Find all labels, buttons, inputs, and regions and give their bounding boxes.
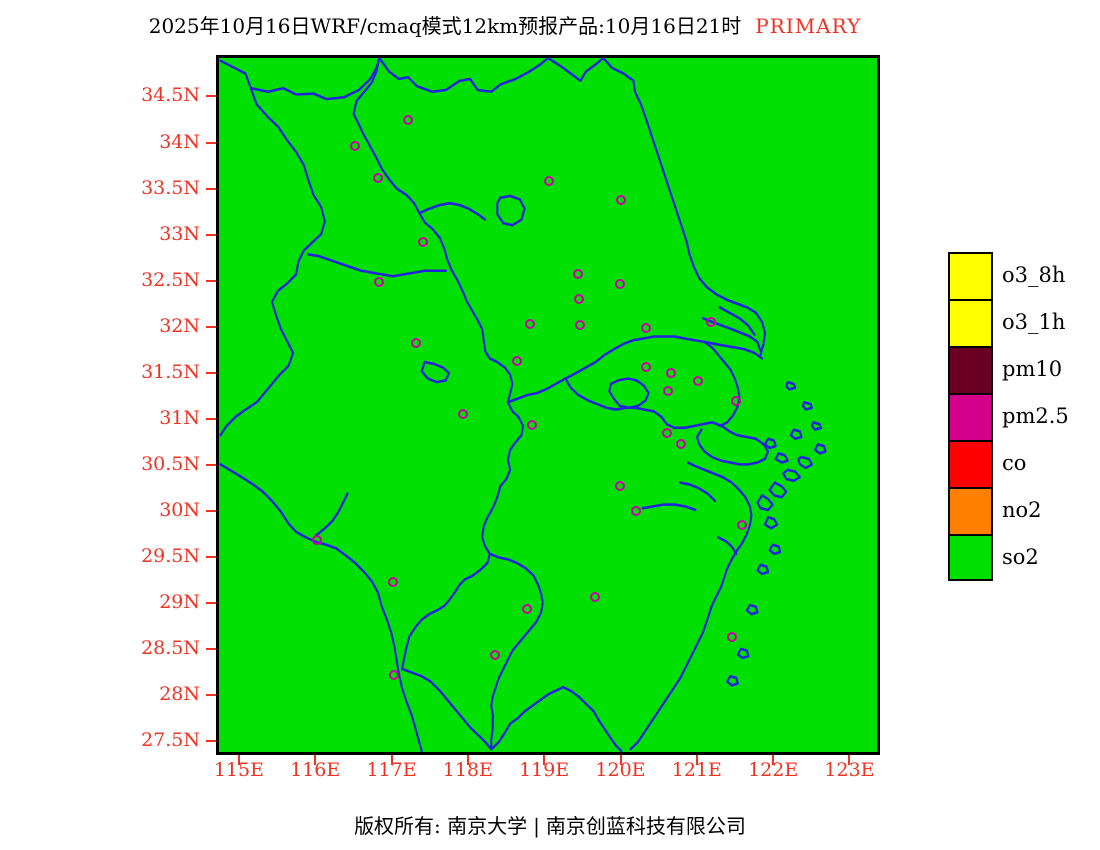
- station-marker[interactable]: [544, 176, 554, 186]
- x-axis-tick: [620, 755, 622, 765]
- station-marker[interactable]: [312, 535, 322, 545]
- legend: o3_8ho3_1hpm10pm2.5cono2so2: [948, 252, 1098, 581]
- legend-label: o3_1h: [1002, 310, 1065, 334]
- legend-item-pm10[interactable]: pm10: [948, 346, 1098, 393]
- legend-divider: [948, 393, 993, 395]
- x-axis-tick: [238, 755, 240, 765]
- station-marker[interactable]: [525, 319, 535, 329]
- legend-item-no2[interactable]: no2: [948, 487, 1098, 534]
- legend-swatch: [948, 346, 993, 393]
- station-marker[interactable]: [388, 577, 398, 587]
- legend-label: pm10: [1002, 357, 1062, 381]
- station-marker[interactable]: [411, 338, 421, 348]
- station-marker[interactable]: [350, 141, 360, 151]
- station-marker[interactable]: [389, 670, 399, 680]
- station-marker[interactable]: [676, 439, 686, 449]
- station-marker[interactable]: [727, 632, 737, 642]
- station-marker[interactable]: [458, 409, 468, 419]
- legend-divider: [948, 440, 993, 442]
- x-axis-tick: [467, 755, 469, 765]
- x-axis-tick: [772, 755, 774, 765]
- legend-divider: [948, 534, 993, 536]
- x-axis-tick: [848, 755, 850, 765]
- legend-item-o3-1h[interactable]: o3_1h: [948, 299, 1098, 346]
- station-marker[interactable]: [575, 320, 585, 330]
- station-marker[interactable]: [662, 428, 672, 438]
- station-marker[interactable]: [573, 269, 583, 279]
- footer-company: 南京创蓝科技有限公司: [546, 814, 746, 838]
- legend-label: co: [1002, 451, 1026, 475]
- legend-swatch: [948, 252, 993, 299]
- station-marker[interactable]: [590, 592, 600, 602]
- legend-swatch: [948, 534, 993, 581]
- footer-copyright: 版权所有: 南京大学: [354, 814, 527, 838]
- station-marker[interactable]: [641, 323, 651, 333]
- legend-label: so2: [1002, 545, 1039, 569]
- x-axis-tick: [543, 755, 545, 765]
- station-marker[interactable]: [641, 362, 651, 372]
- station-marker[interactable]: [693, 376, 703, 386]
- legend-swatch: [948, 487, 993, 534]
- x-axis-tick: [314, 755, 316, 765]
- x-axis-tick: [391, 755, 393, 765]
- legend-item-so2[interactable]: so2: [948, 534, 1098, 581]
- map-plot-area[interactable]: [216, 55, 880, 755]
- station-marker[interactable]: [512, 356, 522, 366]
- station-marker[interactable]: [403, 115, 413, 125]
- station-marker[interactable]: [527, 420, 537, 430]
- station-marker[interactable]: [418, 237, 428, 247]
- legend-swatch: [948, 440, 993, 487]
- legend-label: no2: [1002, 498, 1042, 522]
- legend-label: pm2.5: [1002, 404, 1069, 428]
- station-marker[interactable]: [666, 368, 676, 378]
- station-marker[interactable]: [615, 481, 625, 491]
- station-marker[interactable]: [574, 294, 584, 304]
- station-marker[interactable]: [616, 195, 626, 205]
- legend-item-o3-8h[interactable]: o3_8h: [948, 252, 1098, 299]
- legend-swatch: [948, 393, 993, 440]
- station-marker[interactable]: [731, 396, 741, 406]
- station-marker[interactable]: [631, 506, 641, 516]
- station-marker[interactable]: [737, 520, 747, 530]
- station-marker[interactable]: [522, 604, 532, 614]
- footer: 版权所有: 南京大学|南京创蓝科技有限公司: [0, 810, 1100, 839]
- station-marker[interactable]: [706, 317, 716, 327]
- legend-divider: [948, 346, 993, 348]
- x-axis-tick: [696, 755, 698, 765]
- legend-divider: [948, 487, 993, 489]
- station-marker[interactable]: [374, 277, 384, 287]
- legend-label: o3_8h: [1002, 263, 1065, 287]
- station-marker[interactable]: [663, 386, 673, 396]
- footer-separator: |: [533, 814, 540, 838]
- station-marker[interactable]: [490, 650, 500, 660]
- legend-item-co[interactable]: co: [948, 440, 1098, 487]
- legend-divider: [948, 299, 993, 301]
- station-marker[interactable]: [615, 279, 625, 289]
- legend-swatch: [948, 299, 993, 346]
- station-marker[interactable]: [373, 173, 383, 183]
- station-marker-layer: [219, 58, 877, 752]
- legend-item-pm2-5[interactable]: pm2.5: [948, 393, 1098, 440]
